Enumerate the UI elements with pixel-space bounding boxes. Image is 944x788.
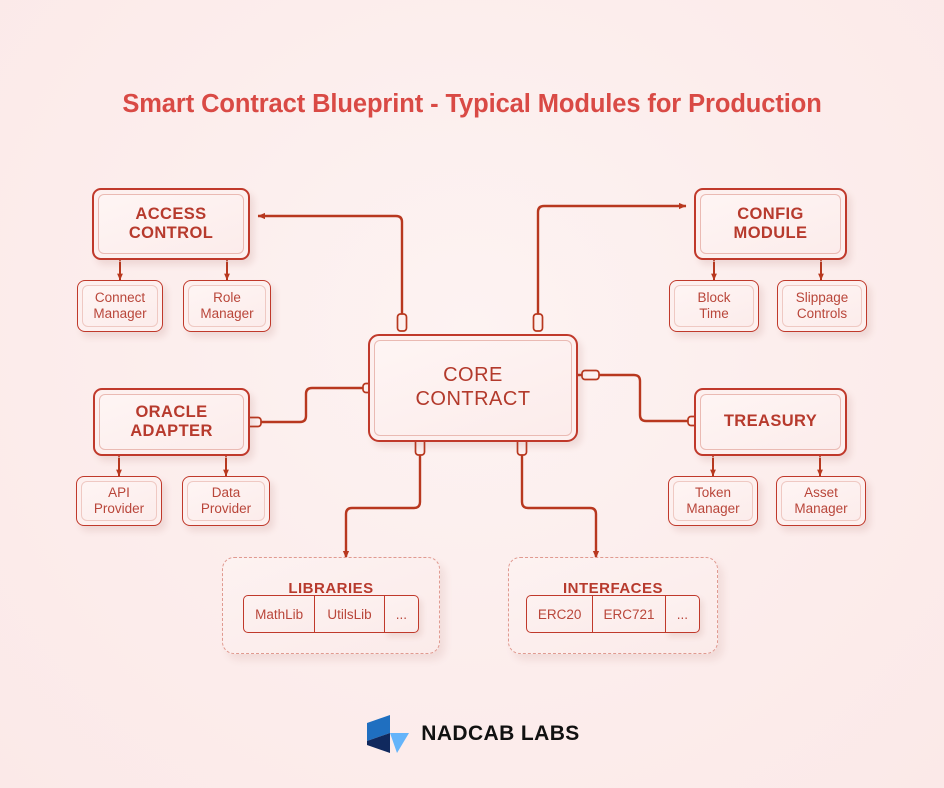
submodule-connect-manager-label: Connect Manager bbox=[82, 285, 158, 327]
module-title-line2: ADAPTER bbox=[130, 422, 213, 440]
footer-branding: NADCAB LABS bbox=[0, 712, 944, 756]
brand-name: NADCAB LABS bbox=[421, 722, 579, 746]
diagram-canvas: Smart Contract Blueprint - Typical Modul… bbox=[0, 0, 944, 788]
page-title: Smart Contract Blueprint - Typical Modul… bbox=[0, 90, 944, 119]
module-treasury[interactable]: TREASURY bbox=[694, 388, 847, 456]
module-oracle-adapter[interactable]: ORACLE ADAPTER bbox=[93, 388, 250, 456]
submodule-api-provider-label: API Provider bbox=[81, 481, 157, 521]
module-oracle-adapter-label: ORACLE ADAPTER bbox=[99, 394, 244, 450]
submodule-token-manager-label: Token Manager bbox=[673, 481, 753, 521]
nadcab-logo-icon bbox=[364, 712, 410, 756]
group-libraries-chips: MathLib UtilsLib ... bbox=[223, 595, 439, 633]
sub-line1: Asset bbox=[804, 485, 838, 500]
sub-line1: Block bbox=[697, 290, 730, 305]
submodule-role-manager-label: Role Manager bbox=[188, 285, 266, 327]
connector-core-to-access-control bbox=[258, 216, 402, 322]
chip-libraries-more[interactable]: ... bbox=[384, 595, 419, 633]
sub-line2: Manager bbox=[93, 306, 146, 321]
submodule-token-manager[interactable]: Token Manager bbox=[668, 476, 758, 526]
core-title-line2: CONTRACT bbox=[415, 388, 530, 410]
chip-utilslib[interactable]: UtilsLib bbox=[314, 595, 386, 633]
sub-line2: Manager bbox=[686, 501, 739, 516]
chip-erc20[interactable]: ERC20 bbox=[526, 595, 593, 633]
sub-line1: Data bbox=[212, 485, 241, 500]
connector-core-to-config-module bbox=[538, 206, 686, 322]
module-access-control-label: ACCESS CONTROL bbox=[98, 194, 244, 254]
submodule-slippage-controls-label: Slippage Controls bbox=[782, 285, 862, 327]
submodule-slippage-controls[interactable]: Slippage Controls bbox=[777, 280, 867, 332]
chip-interfaces-more[interactable]: ... bbox=[665, 595, 700, 633]
sub-line2: Time bbox=[699, 306, 729, 321]
module-treasury-label: TREASURY bbox=[700, 394, 841, 450]
submodule-asset-manager[interactable]: Asset Manager bbox=[776, 476, 866, 526]
module-config-module[interactable]: CONFIG MODULE bbox=[694, 188, 847, 260]
chip-erc721[interactable]: ERC721 bbox=[592, 595, 667, 633]
submodule-data-provider[interactable]: Data Provider bbox=[182, 476, 270, 526]
module-title-line1: ORACLE bbox=[135, 403, 207, 421]
module-title-line1: CONFIG bbox=[737, 205, 804, 223]
module-core-contract-label: CORE CONTRACT bbox=[374, 340, 572, 436]
module-title-line2: MODULE bbox=[734, 224, 808, 242]
module-title-line2: CONTROL bbox=[129, 224, 213, 242]
sub-line2: Manager bbox=[794, 501, 847, 516]
sub-line2: Manager bbox=[200, 306, 253, 321]
pin-core-top-left bbox=[398, 314, 407, 331]
sub-line1: API bbox=[108, 485, 130, 500]
connector-oracle-to-core bbox=[250, 388, 368, 422]
sub-line1: Token bbox=[695, 485, 731, 500]
sub-line2: Provider bbox=[201, 501, 251, 516]
module-title-line1: ACCESS bbox=[135, 205, 206, 223]
module-title-line1: TREASURY bbox=[724, 412, 817, 430]
submodule-api-provider[interactable]: API Provider bbox=[76, 476, 162, 526]
connector-core-to-libraries bbox=[346, 446, 420, 558]
group-libraries[interactable]: LIBRARIES MathLib UtilsLib ... bbox=[222, 557, 440, 654]
sub-line1: Slippage bbox=[796, 290, 849, 305]
pin-core-right bbox=[582, 371, 599, 380]
module-access-control[interactable]: ACCESS CONTROL bbox=[92, 188, 250, 260]
submodule-asset-manager-label: Asset Manager bbox=[781, 481, 861, 521]
submodule-connect-manager[interactable]: Connect Manager bbox=[77, 280, 163, 332]
connector-core-to-treasury bbox=[578, 375, 694, 421]
submodule-block-time[interactable]: Block Time bbox=[669, 280, 759, 332]
chip-mathlib[interactable]: MathLib bbox=[243, 595, 315, 633]
connector-core-to-interfaces bbox=[522, 446, 596, 558]
submodule-block-time-label: Block Time bbox=[674, 285, 754, 327]
core-title-line1: CORE bbox=[443, 364, 503, 386]
sub-line1: Connect bbox=[95, 290, 145, 305]
submodule-data-provider-label: Data Provider bbox=[187, 481, 265, 521]
module-config-module-label: CONFIG MODULE bbox=[700, 194, 841, 254]
sub-line2: Provider bbox=[94, 501, 144, 516]
pin-core-top-right bbox=[534, 314, 543, 331]
sub-line2: Controls bbox=[797, 306, 847, 321]
sub-line1: Role bbox=[213, 290, 241, 305]
group-interfaces-chips: ERC20 ERC721 ... bbox=[509, 595, 717, 633]
group-interfaces[interactable]: INTERFACES ERC20 ERC721 ... bbox=[508, 557, 718, 654]
submodule-role-manager[interactable]: Role Manager bbox=[183, 280, 271, 332]
module-core-contract[interactable]: CORE CONTRACT bbox=[368, 334, 578, 442]
